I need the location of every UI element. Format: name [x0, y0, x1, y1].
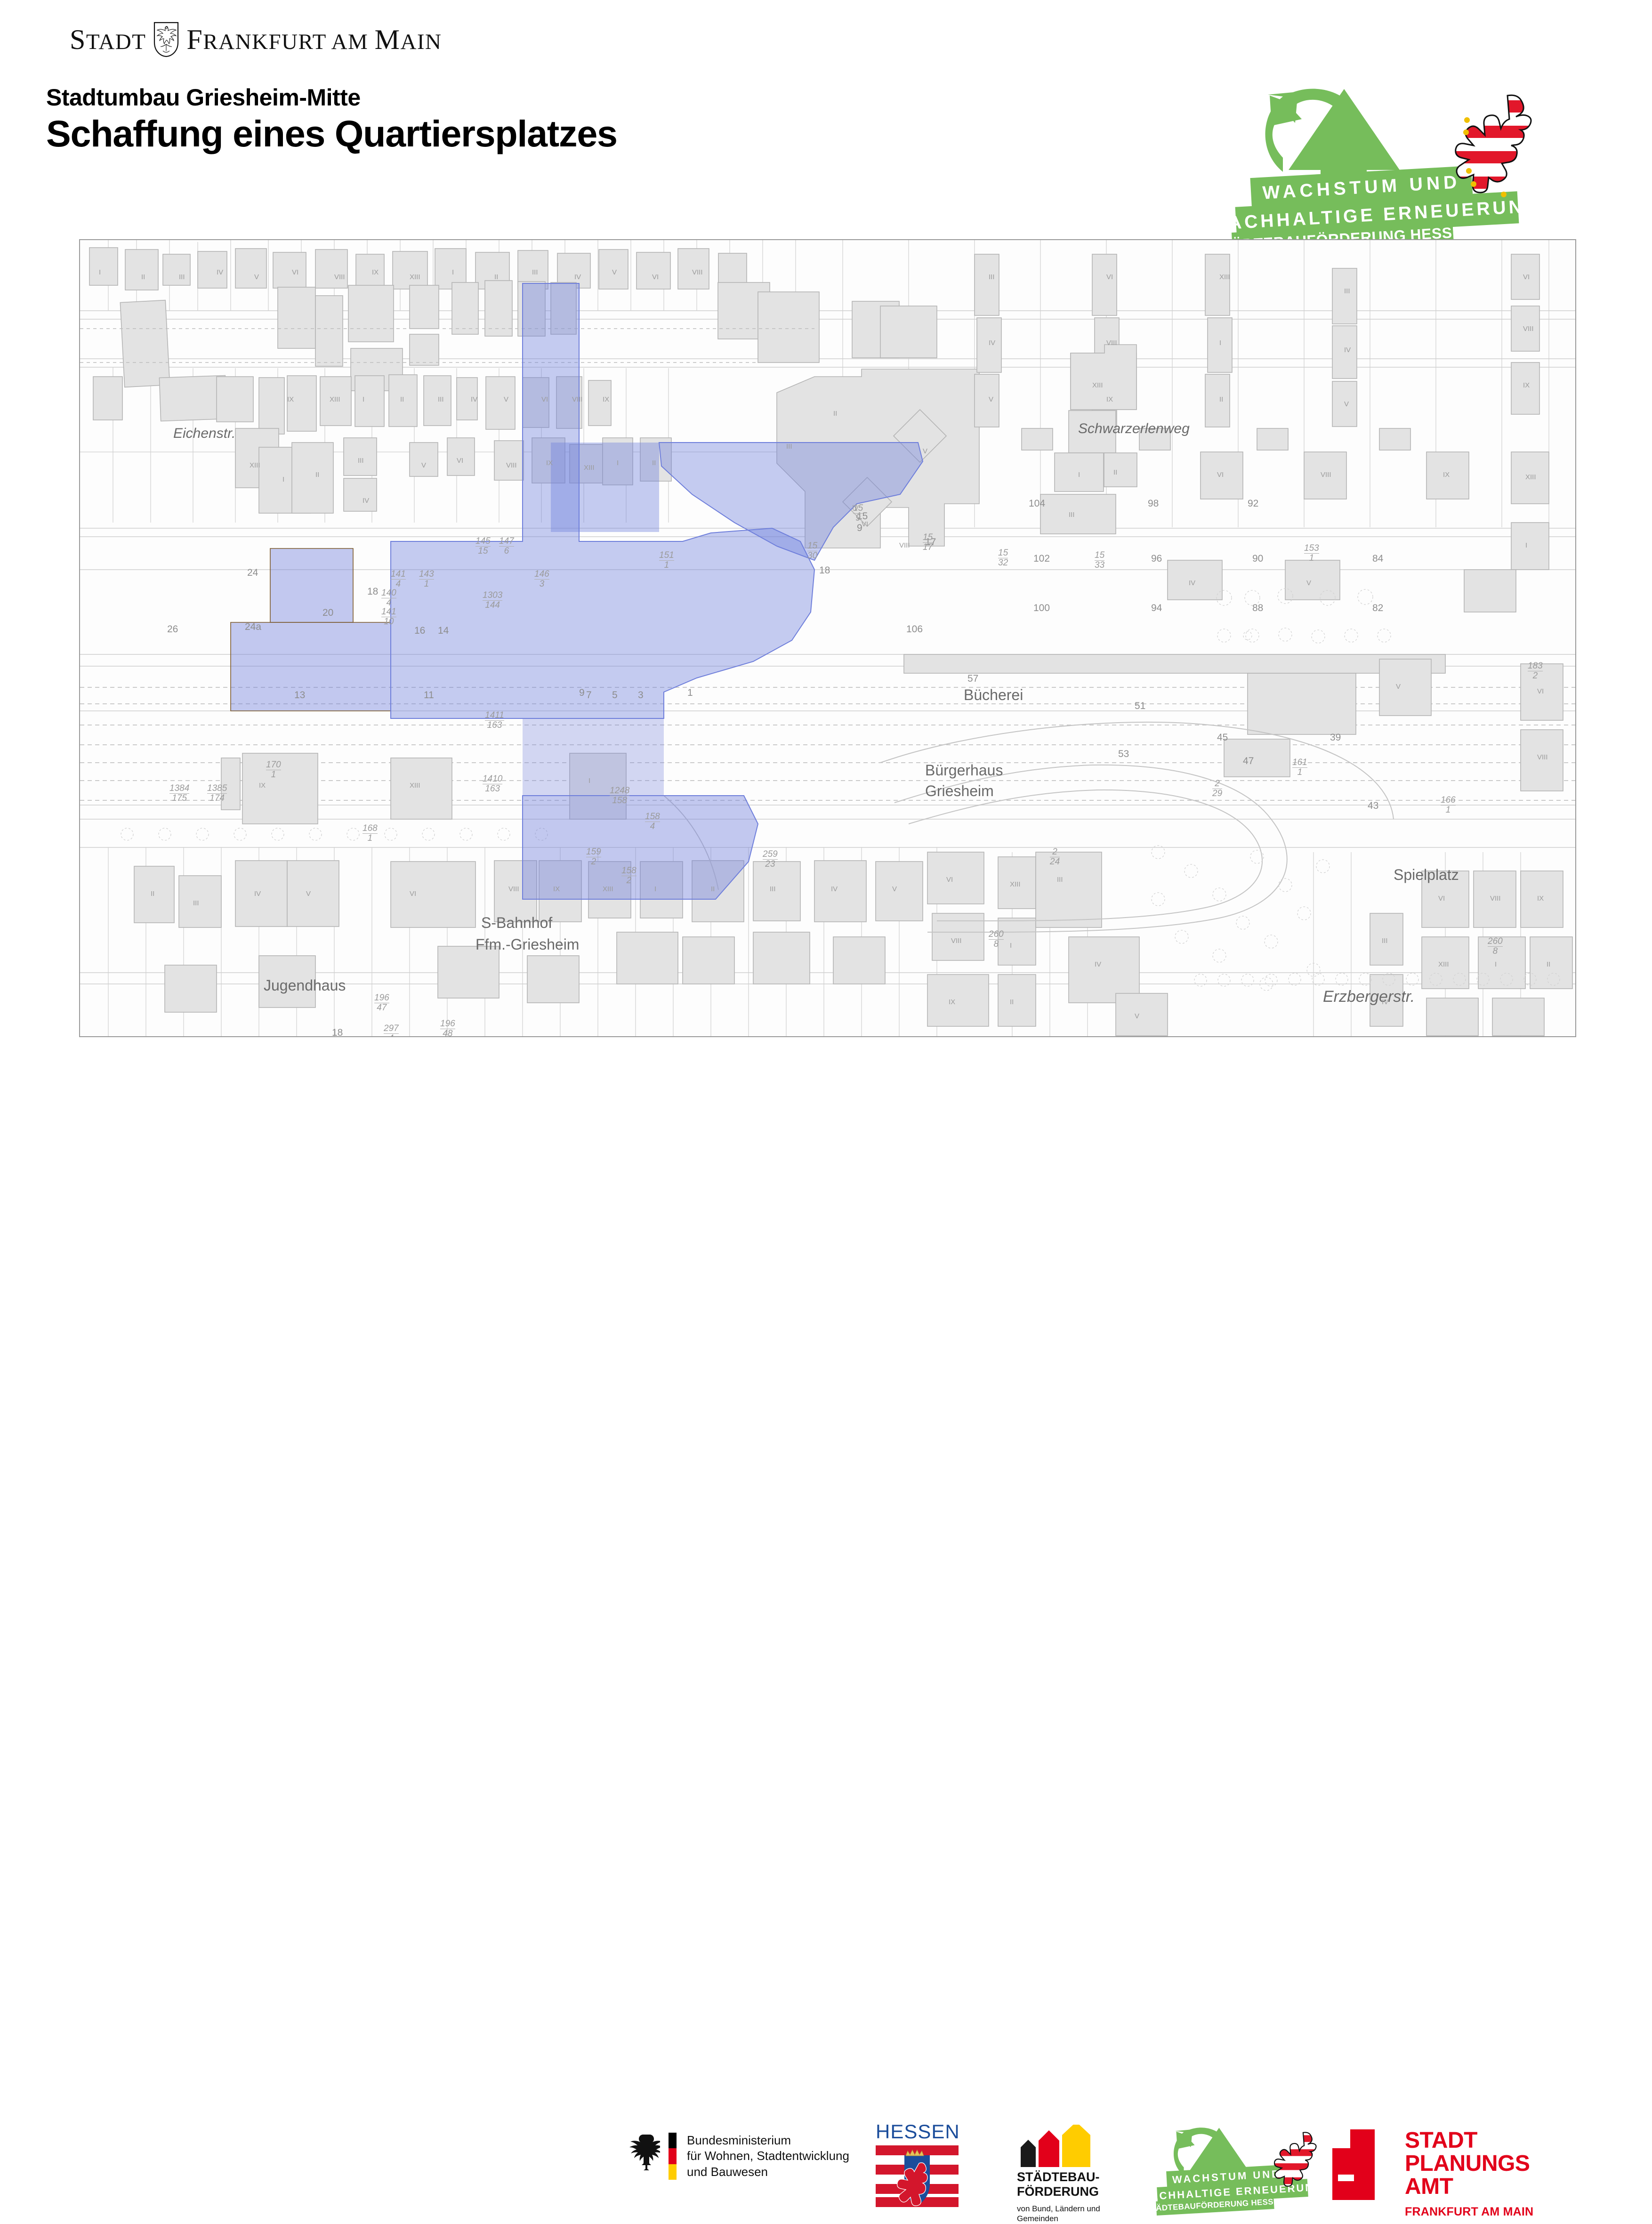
city-logo-word-stadt: STADT [70, 24, 146, 56]
map-canvas [80, 240, 1575, 1036]
spa-line-1: STADT [1405, 2129, 1533, 2152]
staedtebaufoerderung-logo: STÄDTEBAU- FÖRDERUNG von Bund, Ländern u… [1017, 2125, 1158, 2224]
poster-page: STADT FRANKFURT AM MAIN Stadtumbau Gries… [0, 0, 1652, 1168]
stf-line-3: von Bund, Ländern und [1017, 2204, 1158, 2214]
stadtplanungsamt-text: STADT PLANUNGS AMT FRANKFURT AM MAIN [1405, 2129, 1533, 2219]
stadtplanungsamt-mark-icon [1328, 2129, 1389, 2200]
bmwsb-line-2: für Wohnen, Stadtentwicklung [687, 2148, 849, 2164]
stadtplanungsamt-logo: STADT PLANUNGS AMT FRANKFURT AM MAIN [1328, 2129, 1533, 2219]
hessen-coat-of-arms-icon [876, 2145, 959, 2207]
bmwsb-line-1: Bundesministerium [687, 2133, 849, 2148]
bundesadler-icon [626, 2133, 660, 2173]
bmwsb-text: Bundesministerium für Wohnen, Stadtentwi… [687, 2133, 849, 2180]
program-logo-header: WACHSTUM UND NACHHALTIGE ERNEUERUNG STÄD… [1255, 92, 1547, 195]
german-flag-bar-icon [669, 2133, 677, 2180]
stf-line-4: Gemeinden [1017, 2214, 1158, 2224]
city-logo-word-frankfurt-am-main: FRANKFURT AM MAIN [186, 24, 442, 56]
bmwsb-line-3: und Bauwesen [687, 2164, 849, 2180]
spa-line-3: AMT [1405, 2176, 1533, 2199]
city-of-frankfurt-logo: STADT FRANKFURT AM MAIN [70, 22, 442, 57]
page-subtitle: Stadtumbau Griesheim-Mitte [46, 84, 361, 111]
hessen-lion-icon [1455, 87, 1544, 205]
hessen-word: HESSEN [876, 2122, 959, 2142]
stf-line-2: FÖRDERUNG [1017, 2184, 1158, 2199]
page-title: Schaffung eines Quartiersplatzes [46, 112, 617, 155]
spa-line-2: PLANUNGS [1405, 2152, 1533, 2176]
spa-sub: FRANKFURT AM MAIN [1405, 2205, 1533, 2219]
footer-logo-row: Bundesministerium für Wohnen, Stadtentwi… [0, 1057, 1652, 1168]
frankfurt-eagle-shield-icon [153, 22, 180, 57]
three-houses-icon [1019, 2125, 1158, 2163]
bmwsb-logo: Bundesministerium für Wohnen, Stadtentwi… [626, 2133, 849, 2180]
cadastral-map[interactable]: Eichenstr. Schwarzerlenweg Am Gemeindega… [79, 239, 1576, 1037]
hessen-logo: HESSEN [876, 2122, 959, 2207]
hessen-lion-icon-footer [1274, 2127, 1323, 2193]
stf-line-1: STÄDTEBAU- [1017, 2170, 1158, 2184]
program-logo-footer: WACHSTUM UND NACHHALTIGE ERNEUERUNG STÄD… [1163, 2127, 1318, 2202]
